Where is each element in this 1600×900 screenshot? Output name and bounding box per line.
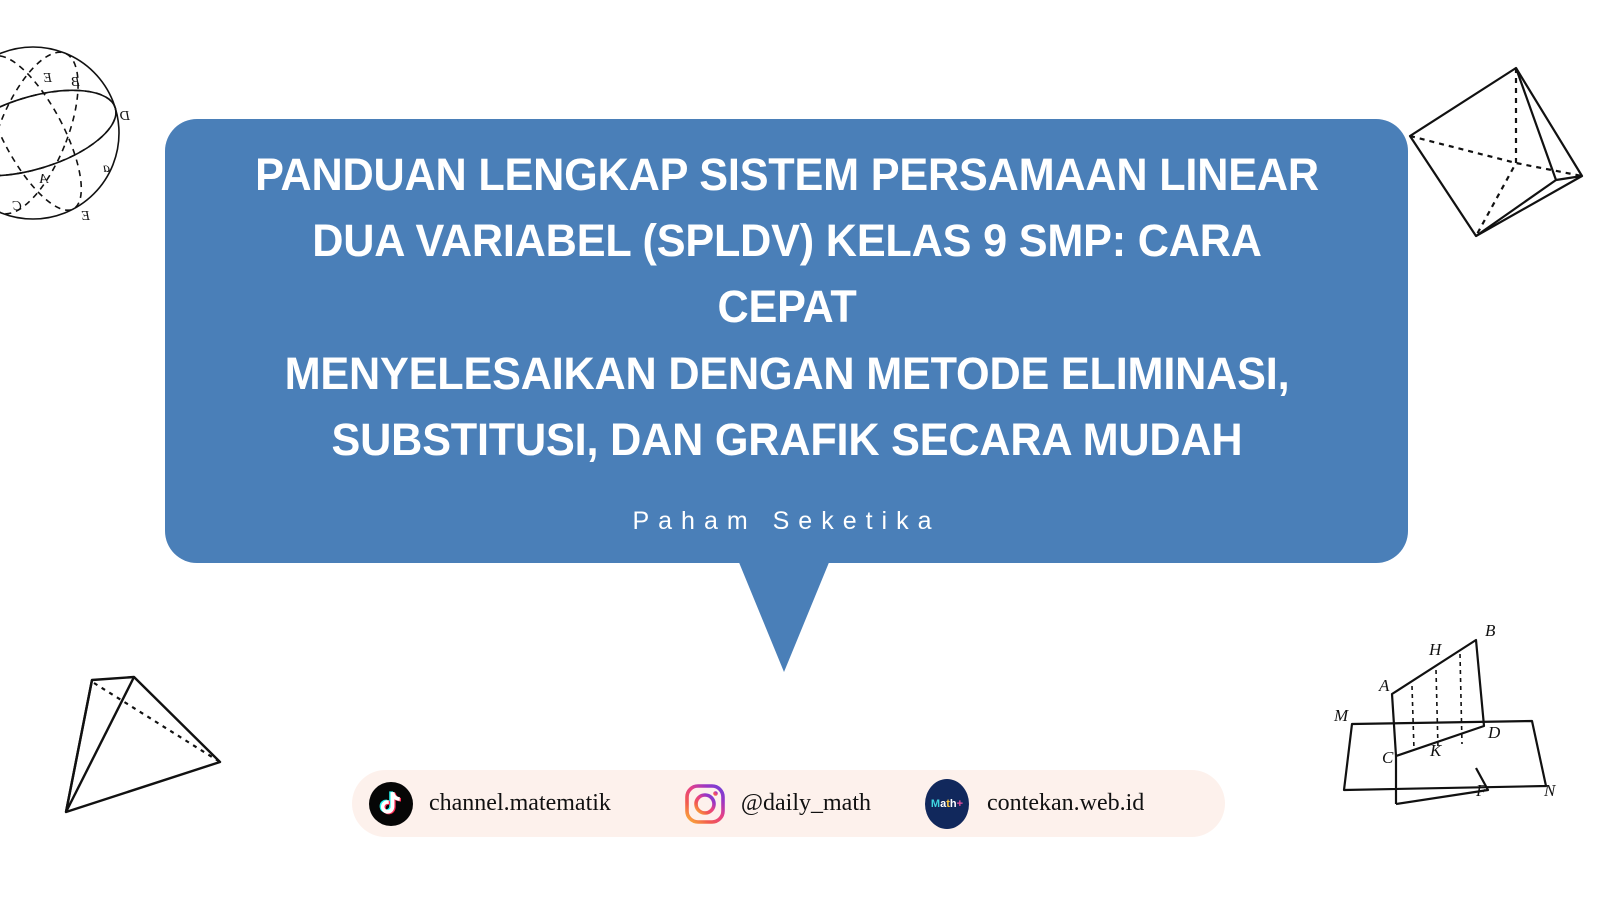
math-logo-letter-h: h — [950, 798, 957, 810]
social-item-tiktok[interactable]: channel.matematik — [369, 770, 611, 837]
background-grid-tile — [1205, 650, 1316, 761]
background-grid-tile — [0, 765, 51, 876]
background-grid-tile — [1205, 0, 1316, 71]
social-item-instagram[interactable]: @daily_math — [683, 770, 871, 837]
background-grid-tile — [1320, 880, 1431, 900]
background-grid-tile — [1435, 765, 1546, 876]
instagram-icon — [683, 782, 727, 826]
background-grid-tile — [515, 0, 626, 71]
background-grid-tile — [1550, 880, 1600, 900]
social-handle-instagram: @daily_math — [741, 790, 871, 817]
background-grid-tile — [975, 650, 1086, 761]
background-grid-tile — [55, 420, 166, 531]
speech-bubble: PANDUAN LENGKAP SISTEM PERSAMAAN LINEARD… — [165, 119, 1408, 563]
background-grid-tile — [1550, 305, 1600, 416]
background-grid-tile — [0, 75, 51, 186]
background-grid-tile — [1550, 0, 1600, 71]
background-grid-tile — [55, 535, 166, 646]
page-title: PANDUAN LENGKAP SISTEM PERSAMAAN LINEARD… — [244, 142, 1329, 473]
background-grid-tile — [515, 650, 626, 761]
background-grid-tile — [55, 190, 166, 301]
background-grid-tile — [975, 0, 1086, 71]
page-title-line-2: DUA VARIABEL (SPLDV) KELAS 9 SMP: CARA C… — [244, 208, 1329, 340]
background-grid-tile — [55, 765, 166, 876]
page-title-line-4: SUBSTITUSI, DAN GRAFIK SECARA MUDAH — [244, 407, 1329, 473]
speech-bubble-tail — [738, 560, 830, 672]
page-subtitle: Paham Seketika — [632, 507, 940, 536]
background-grid-tile — [55, 0, 166, 71]
page-title-line-3: MENYELESAIKAN DENGAN METODE ELIMINASI, — [244, 341, 1329, 407]
background-grid-tile — [1550, 535, 1600, 646]
background-grid-tile — [55, 880, 166, 900]
background-grid-tile — [1205, 880, 1316, 900]
background-grid-tile — [55, 305, 166, 416]
background-grid-tile — [1550, 765, 1600, 876]
background-grid-tile — [1435, 190, 1546, 301]
background-grid-tile — [745, 880, 856, 900]
background-grid-tile — [1550, 650, 1600, 761]
background-grid-tile — [285, 880, 396, 900]
math-logo-letter-m: M — [931, 798, 940, 810]
background-grid-tile — [0, 0, 51, 71]
background-grid-tile — [630, 650, 741, 761]
social-handle-tiktok: channel.matematik — [429, 790, 611, 817]
background-grid-tile — [285, 650, 396, 761]
background-grid-tile — [1435, 650, 1546, 761]
background-grid-tile — [400, 880, 511, 900]
background-grid-tile — [55, 650, 166, 761]
background-grid-tile — [1435, 880, 1546, 900]
background-grid-tile — [0, 305, 51, 416]
background-grid-tile — [170, 765, 281, 876]
social-links-bar: channel.matematik — [352, 770, 1225, 837]
thumbnail-canvas: D B E a A C E — [0, 0, 1600, 900]
background-grid-tile — [285, 0, 396, 71]
background-grid-tile — [1435, 75, 1546, 186]
social-handle-website: contekan.web.id — [987, 790, 1144, 817]
background-grid-tile — [0, 190, 51, 301]
background-grid-tile — [630, 880, 741, 900]
background-grid-tile — [0, 650, 51, 761]
background-grid-tile — [1090, 0, 1201, 71]
background-grid-tile — [1435, 535, 1546, 646]
social-item-website[interactable]: Math+ contekan.web.id — [925, 770, 1144, 837]
background-grid-tile — [400, 650, 511, 761]
background-grid-tile — [1205, 765, 1316, 876]
background-grid-tile — [170, 880, 281, 900]
background-grid-tile — [1320, 650, 1431, 761]
background-grid-tile — [860, 650, 971, 761]
background-grid-tile — [1550, 75, 1600, 186]
tiktok-icon — [369, 782, 413, 826]
background-grid-tile — [860, 880, 971, 900]
background-grid-tile — [1090, 880, 1201, 900]
background-grid-tile — [170, 650, 281, 761]
page-title-line-1: PANDUAN LENGKAP SISTEM PERSAMAAN LINEAR — [244, 142, 1329, 208]
background-grid-tile — [515, 880, 626, 900]
background-grid-tile — [860, 0, 971, 71]
background-grid-row — [0, 0, 1600, 71]
background-grid-tile — [745, 0, 856, 71]
background-grid-tile — [1435, 305, 1546, 416]
background-grid-tile — [1435, 0, 1546, 71]
background-grid-tile — [1320, 765, 1431, 876]
background-grid-tile — [1550, 190, 1600, 301]
background-grid-tile — [170, 0, 281, 71]
background-grid-tile — [0, 880, 51, 900]
background-grid-tile — [975, 880, 1086, 900]
background-grid-tile — [0, 535, 51, 646]
background-grid-row — [0, 880, 1600, 900]
background-grid-tile — [0, 420, 51, 531]
background-grid-tile — [1550, 420, 1600, 531]
background-grid-tile — [1435, 420, 1546, 531]
background-grid-tile — [55, 75, 166, 186]
math-logo-plus: + — [957, 798, 963, 810]
math-logo-icon: Math+ — [925, 782, 969, 826]
background-grid-tile — [400, 0, 511, 71]
background-grid-tile — [1090, 650, 1201, 761]
background-grid-tile — [1320, 0, 1431, 71]
background-grid-tile — [630, 0, 741, 71]
